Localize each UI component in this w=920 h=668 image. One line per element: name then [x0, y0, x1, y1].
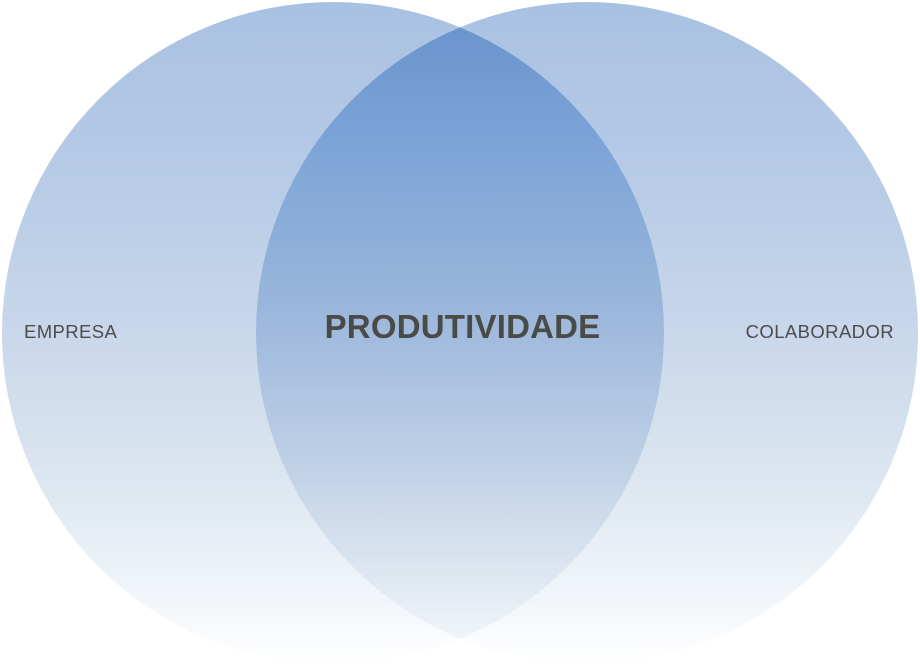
right-set-label: COLABORADOR — [746, 323, 894, 342]
venn-diagram: EMPRESA PRODUTIVIDADE COLABORADOR — [0, 0, 920, 668]
